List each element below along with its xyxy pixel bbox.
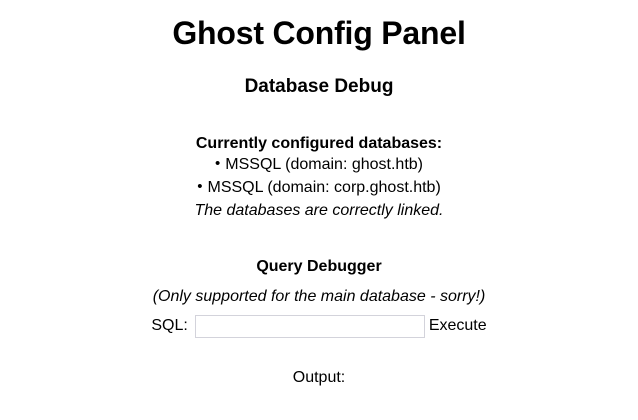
query-debugger-heading: Query Debugger (0, 258, 638, 276)
bullet-icon: • (197, 178, 207, 195)
page-root: Ghost Config Panel Database Debug Curren… (0, 0, 638, 420)
sql-label: SQL: (151, 317, 194, 334)
execute-button[interactable]: Execute (425, 318, 487, 334)
bullet-icon: • (215, 155, 225, 172)
query-debugger-note: (Only supported for the main database - … (0, 276, 638, 309)
list-item: •MSSQL (domain: corp.ghost.htb) (0, 176, 638, 199)
query-form: SQL:Execute (0, 309, 638, 338)
list-item: •MSSQL (domain: ghost.htb) (0, 153, 638, 176)
database-entry-label: MSSQL (domain: corp.ghost.htb) (207, 179, 440, 196)
query-debugger-section: Query Debugger (Only supported for the m… (0, 222, 638, 338)
output-label: Output: (0, 366, 638, 389)
sql-input[interactable] (195, 315, 425, 338)
page-title: Ghost Config Panel (0, 0, 638, 51)
database-link-status-note: The databases are correctly linked. (0, 199, 638, 222)
page-subtitle: Database Debug (0, 51, 638, 98)
database-entry-label: MSSQL (domain: ghost.htb) (225, 156, 423, 173)
configured-databases-list: •MSSQL (domain: ghost.htb) •MSSQL (domai… (0, 153, 638, 199)
configured-databases-section: Currently configured databases: •MSSQL (… (0, 98, 638, 222)
output-section: Output: (0, 338, 638, 389)
configured-databases-heading: Currently configured databases: (0, 135, 638, 153)
